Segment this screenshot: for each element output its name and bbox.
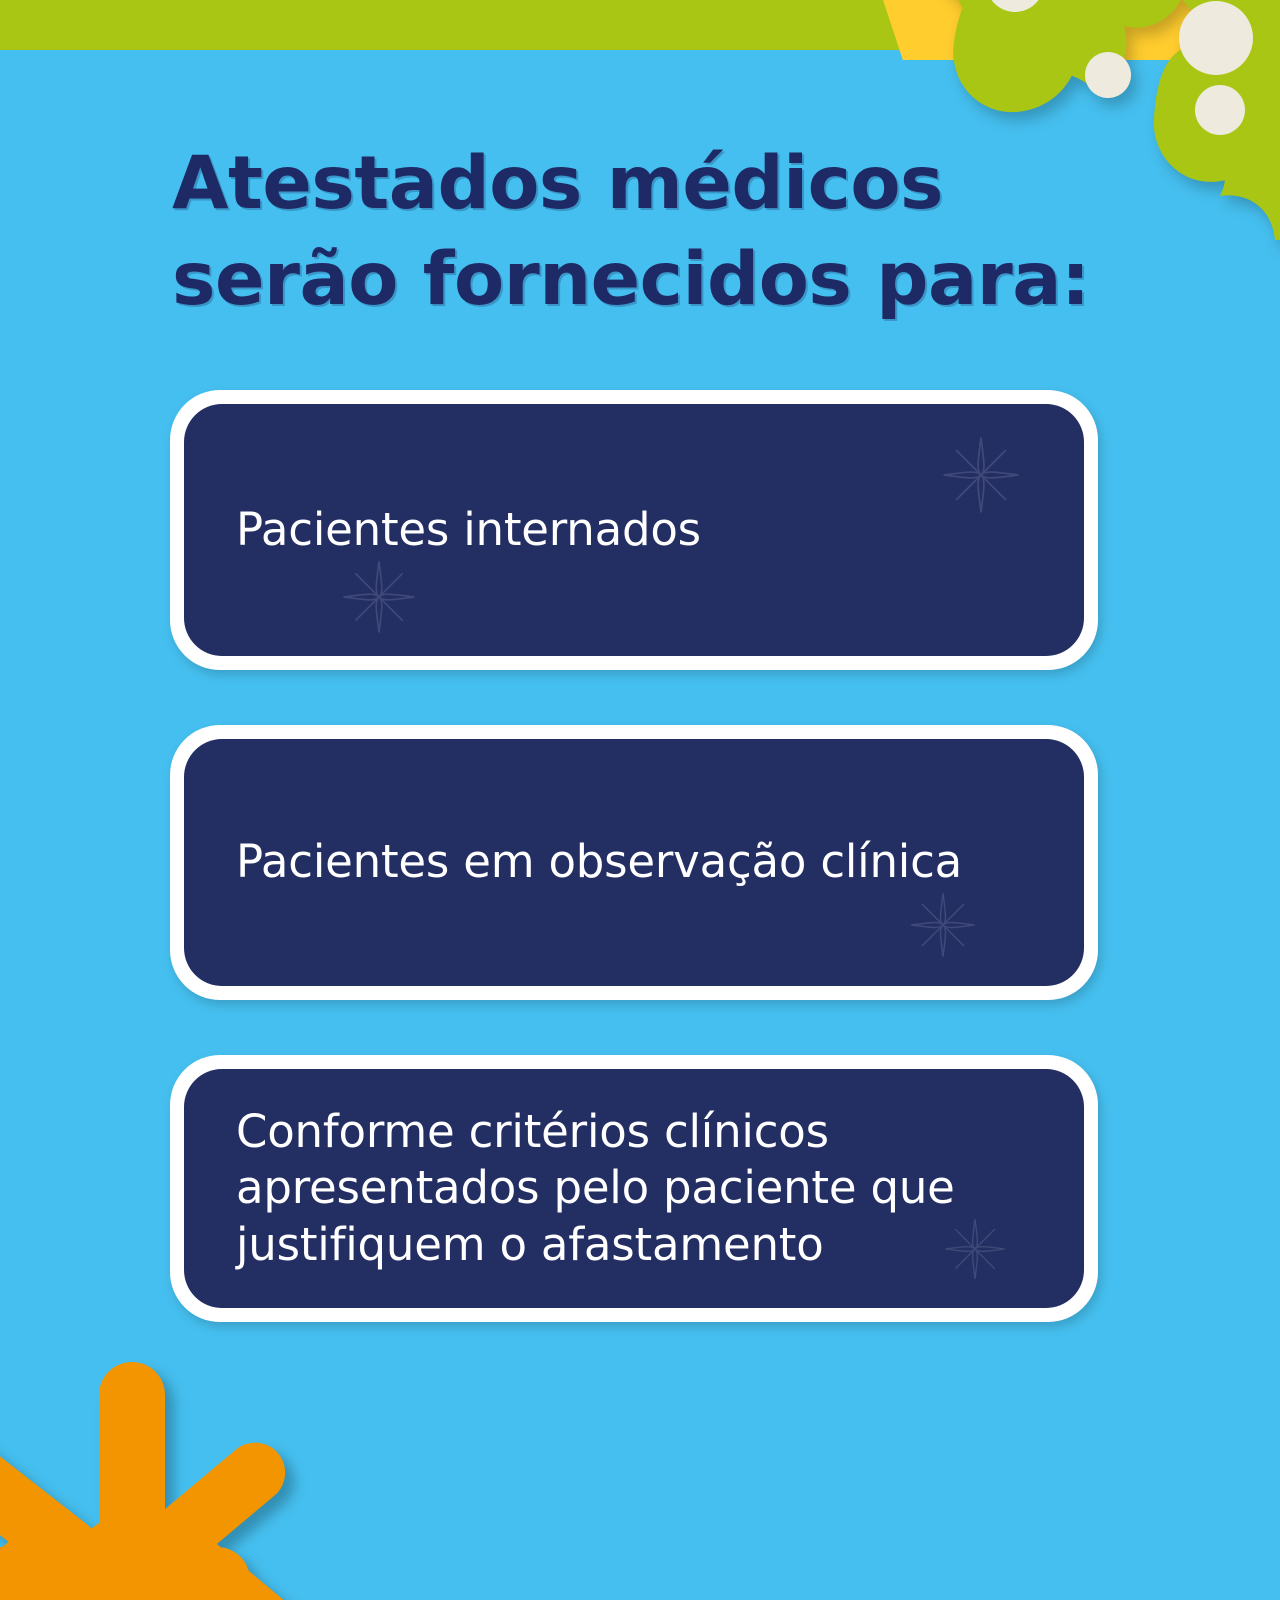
page-title-line-2: serão fornecidos para: <box>172 232 1092 328</box>
sparkle-icon <box>342 560 416 634</box>
orange-starburst-icon <box>0 1350 300 1600</box>
card-body: Pacientes em observação clínica <box>184 739 1084 986</box>
sparkle-icon <box>910 892 976 958</box>
sparkle-icon <box>942 436 1020 514</box>
card-body: Pacientes internados <box>184 404 1084 656</box>
page-title: Atestados médicos serão fornecidos para: <box>172 136 1092 329</box>
list-item-label: Conforme critérios clínicos apresentados… <box>184 1104 1084 1273</box>
list-item: Conforme critérios clínicos apresentados… <box>170 1055 1098 1322</box>
list-item-label: Pacientes em observação clínica <box>184 834 992 890</box>
list-item-label: Pacientes internados <box>184 502 731 558</box>
card-body: Conforme critérios clínicos apresentados… <box>184 1069 1084 1308</box>
list-item: Pacientes em observação clínica <box>170 725 1098 1000</box>
list-item: Pacientes internados <box>170 390 1098 670</box>
poster-canvas: Atestados médicos serão fornecidos para: <box>0 0 1280 1600</box>
page-title-line-1: Atestados médicos <box>172 136 1092 232</box>
